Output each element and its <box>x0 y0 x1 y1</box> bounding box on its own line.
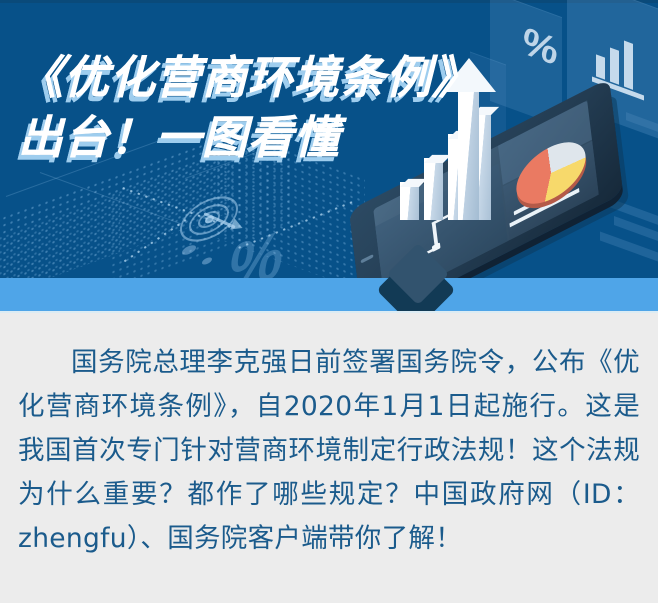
hero-top-rule <box>0 0 658 3</box>
dot-accent <box>182 243 196 256</box>
accent-strip <box>0 278 658 312</box>
infographic-page: % % <box>0 0 658 603</box>
dot-accent <box>202 256 212 266</box>
percent-watermark-icon: % <box>228 223 279 278</box>
hero-banner: % % <box>0 0 658 278</box>
bar <box>400 182 419 220</box>
guide-line <box>40 172 181 224</box>
title-line-1: 《优化营商环境条例》 <box>18 48 478 108</box>
article-body: 国务院总理李克强日前签署国务院令，公布《优化营商环境条例》，自2020年1月1日… <box>0 313 658 561</box>
article-section: 国务院总理李克强日前签署国务院令，公布《优化营商环境条例》，自2020年1月1日… <box>0 313 658 603</box>
title-line-2: 出台！一图看懂 <box>18 108 478 168</box>
page-title: 《优化营商环境条例》 出台！一图看懂 <box>18 48 478 168</box>
home-button[interactable] <box>361 254 374 264</box>
dot-pattern-icon <box>0 191 120 278</box>
